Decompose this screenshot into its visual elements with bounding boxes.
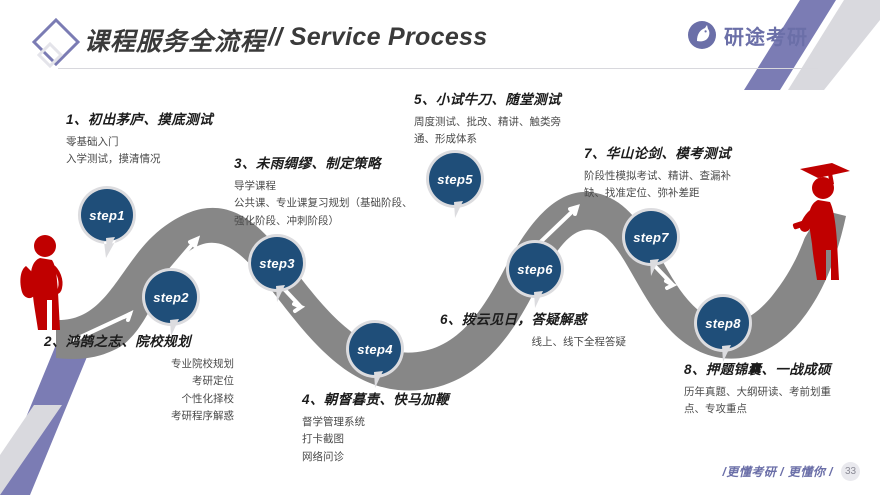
footer-slogan: /更懂考研 / 更懂你 / (722, 463, 833, 480)
step-line: 督学管理系统 (302, 414, 449, 431)
step-line: 周度测试、批改、精讲、触类旁 (414, 114, 584, 131)
step-pin-1[interactable]: step1 (76, 184, 138, 260)
step-text-4: 4、朝督暮责、快马加鞭 督学管理系统 打卡截图 网络问诊 (302, 388, 449, 466)
step-line: 阶段性模拟考试、精讲、查漏补 (584, 168, 764, 185)
step-pin-8[interactable]: step8 (692, 292, 754, 368)
step-line: 专业院校规划 (44, 356, 234, 373)
step-line: 公共课、专业课复习规划（基础阶段、 (234, 195, 413, 212)
step-pin-label: step4 (344, 318, 406, 380)
step-pin-5[interactable]: step5 (424, 148, 486, 224)
step-line: 缺、找准定位、弥补差距 (584, 185, 764, 202)
page-number-badge: 33 (841, 462, 860, 481)
step-title: 7、华山论剑、模考测试 (584, 142, 764, 162)
step-line: 线上、线下全程答疑 (440, 334, 626, 351)
step-title: 3、未雨绸缪、制定策略 (234, 152, 413, 172)
step-text-1: 1、初出茅庐、摸底测试 零基础入门 入学测试，摸清情况 (66, 108, 213, 169)
slide-footer: /更懂考研 / 更懂你 / 33 (722, 462, 860, 481)
step-title: 2、鸿鹄之志、院校规划 (44, 330, 234, 350)
step-pin-6[interactable]: step6 (504, 238, 566, 314)
step-line: 历年真题、大纲研读、考前划重 (684, 384, 864, 401)
step-title: 1、初出茅庐、摸底测试 (66, 108, 213, 128)
step-line: 打卡截图 (302, 431, 449, 448)
step-text-8: 8、押题锦囊、一战成硕 历年真题、大纲研读、考前划重 点、专攻重点 (684, 358, 864, 419)
step-text-5: 5、小试牛刀、随堂测试 周度测试、批改、精讲、触类旁 通、形成体系 (414, 88, 584, 149)
step-text-2: 2、鸿鹄之志、院校规划 专业院校规划 考研定位 个性化择校 考研程序解惑 (44, 330, 234, 425)
step-line: 入学测试，摸清情况 (66, 151, 213, 168)
step-title: 6、拨云见日，答疑解惑 (440, 308, 626, 328)
step-pin-7[interactable]: step7 (620, 206, 682, 282)
step-title: 4、朝督暮责、快马加鞭 (302, 388, 449, 408)
step-pin-4[interactable]: step4 (344, 318, 406, 394)
step-text-6: 6、拨云见日，答疑解惑 线上、线下全程答疑 (440, 308, 626, 351)
step-line: 零基础入门 (66, 134, 213, 151)
step-pin-label: step8 (692, 292, 754, 354)
step-pin-label: step2 (140, 266, 202, 328)
step-pin-label: step6 (504, 238, 566, 300)
step-line: 网络问诊 (302, 449, 449, 466)
student-with-backpack-icon (20, 235, 60, 330)
step-title: 8、押题锦囊、一战成硕 (684, 358, 864, 378)
step-title: 5、小试牛刀、随堂测试 (414, 88, 584, 108)
step-line: 点、专攻重点 (684, 401, 864, 418)
step-pin-3[interactable]: step3 (246, 232, 308, 308)
step-line: 导学课程 (234, 178, 413, 195)
slide-canvas: 课程服务全流程 // Service Process 研途考研 (0, 0, 880, 495)
step-pin-label: step5 (424, 148, 486, 210)
step-text-7: 7、华山论剑、模考测试 阶段性模拟考试、精讲、查漏补 缺、找准定位、弥补差距 (584, 142, 764, 203)
step-line: 强化阶段、冲刺阶段） (234, 213, 413, 230)
step-pin-label: step7 (620, 206, 682, 268)
step-line: 通、形成体系 (414, 131, 584, 148)
step-line: 个性化择校 (44, 391, 234, 408)
step-line: 考研程序解惑 (44, 408, 234, 425)
step-line: 考研定位 (44, 373, 234, 390)
step-text-3: 3、未雨绸缪、制定策略 导学课程 公共课、专业课复习规划（基础阶段、 强化阶段、… (234, 152, 413, 230)
step-pin-label: step3 (246, 232, 308, 294)
step-pin-label: step1 (76, 184, 138, 246)
